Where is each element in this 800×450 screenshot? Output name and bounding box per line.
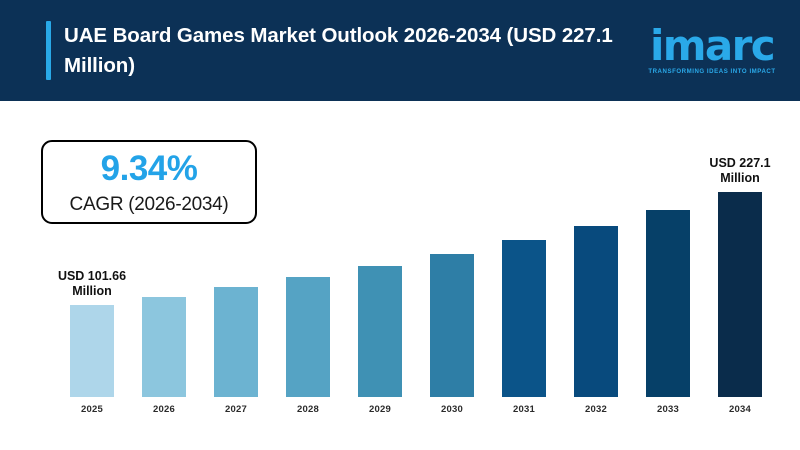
bar-2031: 2031 bbox=[502, 240, 546, 397]
header-title-wrap: UAE Board Games Market Outlook 2026-2034… bbox=[46, 21, 621, 79]
bar-2030: 2030 bbox=[430, 254, 474, 397]
bar-value-label-line: USD 101.66 bbox=[34, 269, 150, 284]
x-axis-label-2028: 2028 bbox=[276, 397, 340, 415]
x-axis-label-2032: 2032 bbox=[564, 397, 628, 415]
bar-2029: 2029 bbox=[358, 266, 402, 397]
title-accent-bar bbox=[46, 21, 51, 79]
x-axis-label-2034: 2034 bbox=[708, 397, 772, 415]
bar-2025: USD 101.66Million2025 bbox=[70, 305, 114, 397]
bar-2026: 2026 bbox=[142, 297, 186, 397]
bar-rect-2033 bbox=[646, 210, 690, 397]
cagr-label: CAGR (2026-2034) bbox=[70, 195, 229, 214]
logo-wordmark: imarc bbox=[650, 27, 774, 66]
x-axis-label-2025: 2025 bbox=[60, 397, 124, 415]
bar-2034: USD 227.1Million2034 bbox=[718, 192, 762, 397]
bar-rect-2026 bbox=[142, 297, 186, 397]
bar-value-label-line: USD 227.1 bbox=[682, 156, 798, 171]
imarc-logo[interactable]: imarc TRANSFORMING IDEAS INTO IMPACT bbox=[648, 20, 776, 82]
x-axis-label-2031: 2031 bbox=[492, 397, 556, 415]
bar-value-label-2025: USD 101.66Million bbox=[34, 269, 150, 306]
x-axis-label-2027: 2027 bbox=[204, 397, 268, 415]
page-header: UAE Board Games Market Outlook 2026-2034… bbox=[0, 0, 800, 101]
bar-rect-2029 bbox=[358, 266, 402, 397]
x-axis-label-2030: 2030 bbox=[420, 397, 484, 415]
bar-rect-2028 bbox=[286, 277, 330, 397]
bar-2033: 2033 bbox=[646, 210, 690, 397]
bar-value-label-line: Million bbox=[682, 171, 798, 186]
bar-rect-2034 bbox=[718, 192, 762, 397]
page-title: UAE Board Games Market Outlook 2026-2034… bbox=[64, 21, 621, 79]
bar-rect-2032 bbox=[574, 226, 618, 397]
x-axis-label-2026: 2026 bbox=[132, 397, 196, 415]
bar-rect-2025 bbox=[70, 305, 114, 397]
bar-2027: 2027 bbox=[214, 287, 258, 397]
bar-2032: 2032 bbox=[574, 226, 618, 397]
x-axis-label-2029: 2029 bbox=[348, 397, 412, 415]
bar-rect-2030 bbox=[430, 254, 474, 397]
bar-2028: 2028 bbox=[286, 277, 330, 397]
bar-value-label-line: Million bbox=[34, 284, 150, 299]
cagr-callout: 9.34% CAGR (2026-2034) bbox=[41, 140, 257, 224]
bar-value-label-2034: USD 227.1Million bbox=[682, 156, 798, 193]
bar-rect-2027 bbox=[214, 287, 258, 397]
x-axis-label-2033: 2033 bbox=[636, 397, 700, 415]
bar-rect-2031 bbox=[502, 240, 546, 397]
cagr-value: 9.34% bbox=[101, 151, 198, 186]
